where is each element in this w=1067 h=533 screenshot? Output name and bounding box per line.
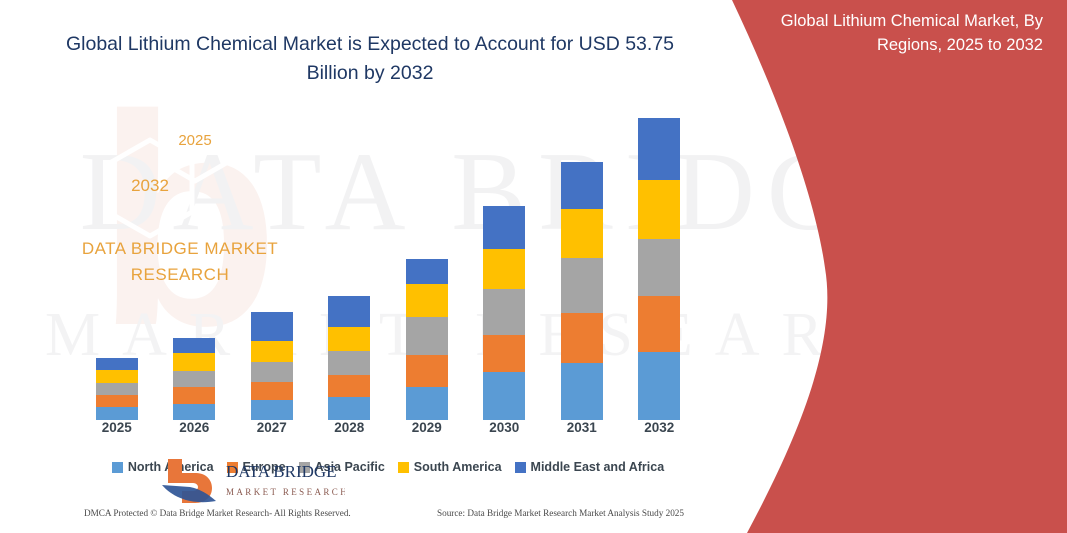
bar-segment: [251, 382, 293, 401]
logo-text-top: DATA BRIDGE: [226, 462, 337, 481]
legend-swatch: [112, 462, 123, 473]
bar-segment: [406, 387, 448, 420]
legend-item[interactable]: Middle East and Africa: [515, 460, 665, 474]
bar-segment: [561, 162, 603, 209]
legend-swatch: [398, 462, 409, 473]
bar-segment: [483, 289, 525, 335]
bar-segment: [96, 395, 138, 407]
bar-segment: [96, 358, 138, 370]
stacked-bar: [328, 296, 370, 420]
bar-segment: [251, 400, 293, 420]
bar-segment: [638, 239, 680, 296]
brand-line-2: RESEARCH: [0, 262, 360, 288]
bar-segment: [328, 351, 370, 375]
legend-label: South America: [414, 460, 502, 474]
legend-label: Middle East and Africa: [531, 460, 665, 474]
bar-segment: [561, 209, 603, 258]
legend-swatch: [515, 462, 526, 473]
data-bridge-logo: DATA BRIDGE MARKET RESEARCH: [160, 455, 345, 507]
brand-line-1: DATA BRIDGE MARKET: [0, 236, 360, 262]
stacked-bar: [406, 259, 448, 420]
bar-segment: [406, 317, 448, 355]
bar-segment: [406, 355, 448, 387]
x-axis-tick: 2026: [156, 420, 234, 444]
bar-segment: [173, 387, 215, 403]
right-panel-title: Global Lithium Chemical Market, By Regio…: [743, 10, 1043, 58]
bar-segment: [96, 383, 138, 395]
x-axis-labels: 20252026202720282029203020312032: [78, 420, 698, 444]
bar-segment: [406, 284, 448, 317]
bar-segment: [561, 258, 603, 313]
bar-segment: [561, 313, 603, 363]
logo-text-bottom: MARKET RESEARCH: [226, 487, 345, 497]
page-title: Global Lithium Chemical Market is Expect…: [60, 30, 680, 89]
bar-segment: [96, 370, 138, 383]
bar-segment: [483, 206, 525, 250]
bar-segment: [561, 363, 603, 420]
footer-copyright: DMCA Protected © Data Bridge Market Rese…: [84, 508, 351, 526]
bar-segment: [638, 180, 680, 239]
x-axis-tick: 2030: [466, 420, 544, 444]
bar-segment: [251, 341, 293, 362]
bar-segment: [328, 375, 370, 397]
bar-segment: [483, 249, 525, 288]
bar-column: [466, 118, 544, 420]
x-axis-tick: 2025: [78, 420, 156, 444]
stacked-bar: [561, 162, 603, 420]
bar-segment: [638, 296, 680, 352]
bar-segment: [251, 362, 293, 382]
bar-column: [621, 118, 699, 420]
bar-segment: [173, 353, 215, 371]
x-axis-tick: 2032: [621, 420, 699, 444]
bar-segment: [173, 338, 215, 353]
brand-wordmark: DATA BRIDGE MARKET RESEARCH: [0, 236, 360, 289]
x-axis-tick: 2027: [233, 420, 311, 444]
x-axis-tick: 2029: [388, 420, 466, 444]
stacked-bar: [638, 118, 680, 420]
bar-column: [388, 118, 466, 420]
bar-segment: [328, 397, 370, 420]
stacked-bar: [251, 312, 293, 420]
stacked-bar: [96, 358, 138, 420]
footer-source: Source: Data Bridge Market Research Mark…: [437, 508, 684, 526]
right-panel: [707, 0, 1067, 533]
bar-segment: [328, 296, 370, 327]
bar-segment: [406, 259, 448, 284]
bar-segment: [483, 335, 525, 372]
bar-segment: [483, 372, 525, 420]
bar-segment: [638, 118, 680, 180]
red-panel-shape: [707, 0, 1067, 533]
x-axis-tick: 2028: [311, 420, 389, 444]
bar-segment: [96, 407, 138, 420]
stacked-bar: [483, 206, 525, 420]
bar-column: [543, 118, 621, 420]
footer: DMCA Protected © Data Bridge Market Rese…: [84, 508, 684, 526]
bar-segment: [173, 371, 215, 387]
bar-segment: [638, 352, 680, 420]
bar-segment: [328, 327, 370, 351]
legend-item[interactable]: South America: [398, 460, 502, 474]
infographic-canvas: b DATA BRIDGE MARKET RESEARCH Global Lit…: [0, 0, 1067, 533]
stacked-bar: [173, 338, 215, 420]
bar-segment: [173, 404, 215, 420]
x-axis-tick: 2031: [543, 420, 621, 444]
bar-segment: [251, 312, 293, 342]
